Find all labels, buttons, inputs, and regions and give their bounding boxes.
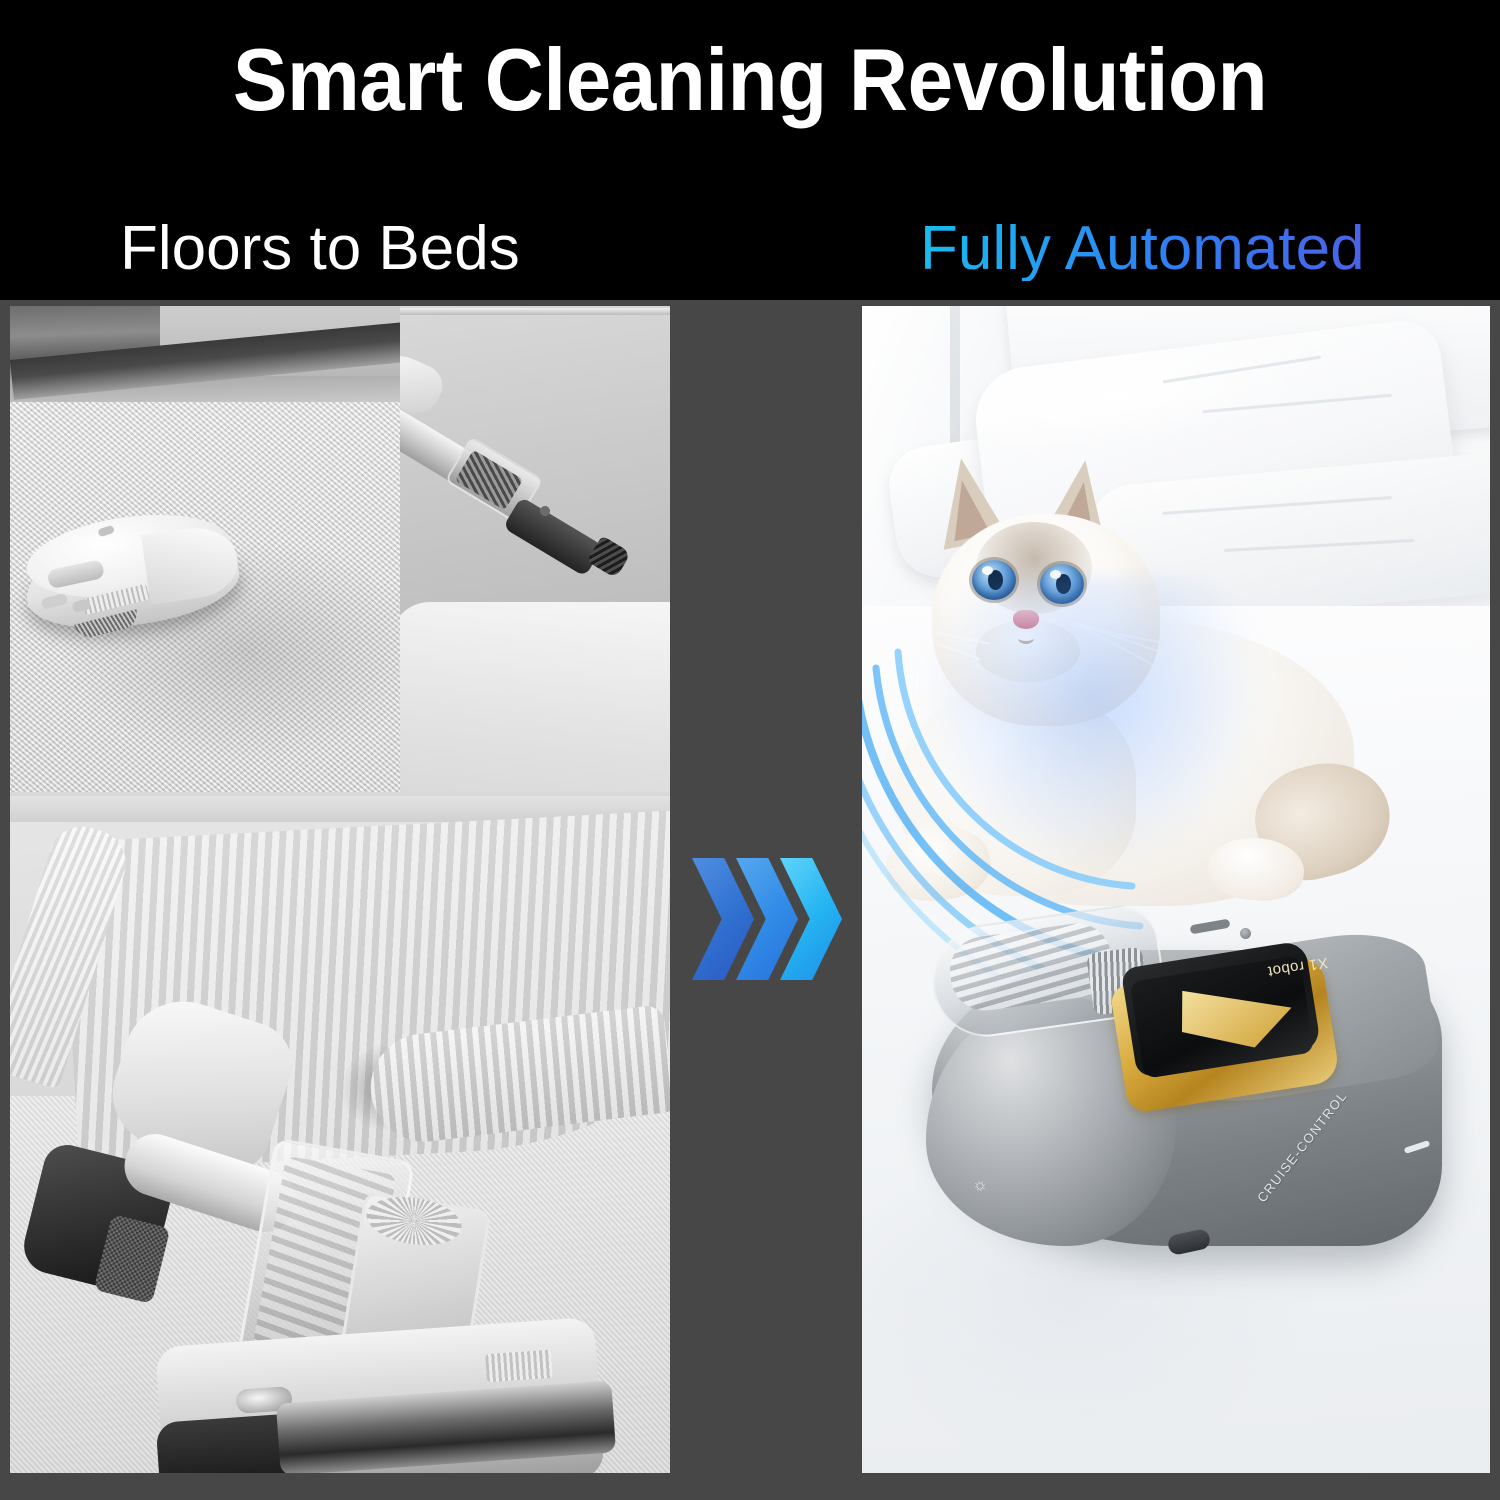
mattress-vacuum-device: X1 robot ☼ CRUISE-CONTROL	[892, 906, 1482, 1326]
page-title: Smart Cleaning Revolution	[53, 34, 1448, 126]
right-hero-photo: X1 robot ☼ CRUISE-CONTROL	[862, 306, 1490, 1473]
cat-mouth	[1018, 632, 1034, 644]
chevron-right-icon	[692, 858, 754, 980]
left-photo-collage	[10, 306, 670, 1473]
ragdoll-cat	[872, 434, 1392, 904]
device-screw	[1240, 928, 1251, 939]
subhead-left: Floors to Beds	[120, 216, 520, 281]
cat-muzzle	[976, 620, 1080, 682]
device-vent-notch	[1190, 919, 1231, 935]
chevron-arrow-group	[692, 858, 852, 980]
brush-head-vents	[485, 1350, 553, 1383]
product-poster: Smart Cleaning Revolution Floors to Beds…	[0, 0, 1500, 1500]
sofa-seat	[400, 602, 670, 792]
photo-robot-vacuum-on-carpet	[10, 306, 400, 792]
cat-nose	[1013, 610, 1039, 629]
subhead-right: Fully Automated	[920, 216, 1365, 281]
photo-stick-vacuum-on-bed	[10, 796, 670, 1473]
cat-eye-glint-right	[1050, 570, 1061, 579]
photo-handheld-vacuum-on-sofa	[400, 306, 670, 792]
cushion-seam	[400, 308, 670, 315]
cat-eye-glint-left	[982, 566, 993, 575]
